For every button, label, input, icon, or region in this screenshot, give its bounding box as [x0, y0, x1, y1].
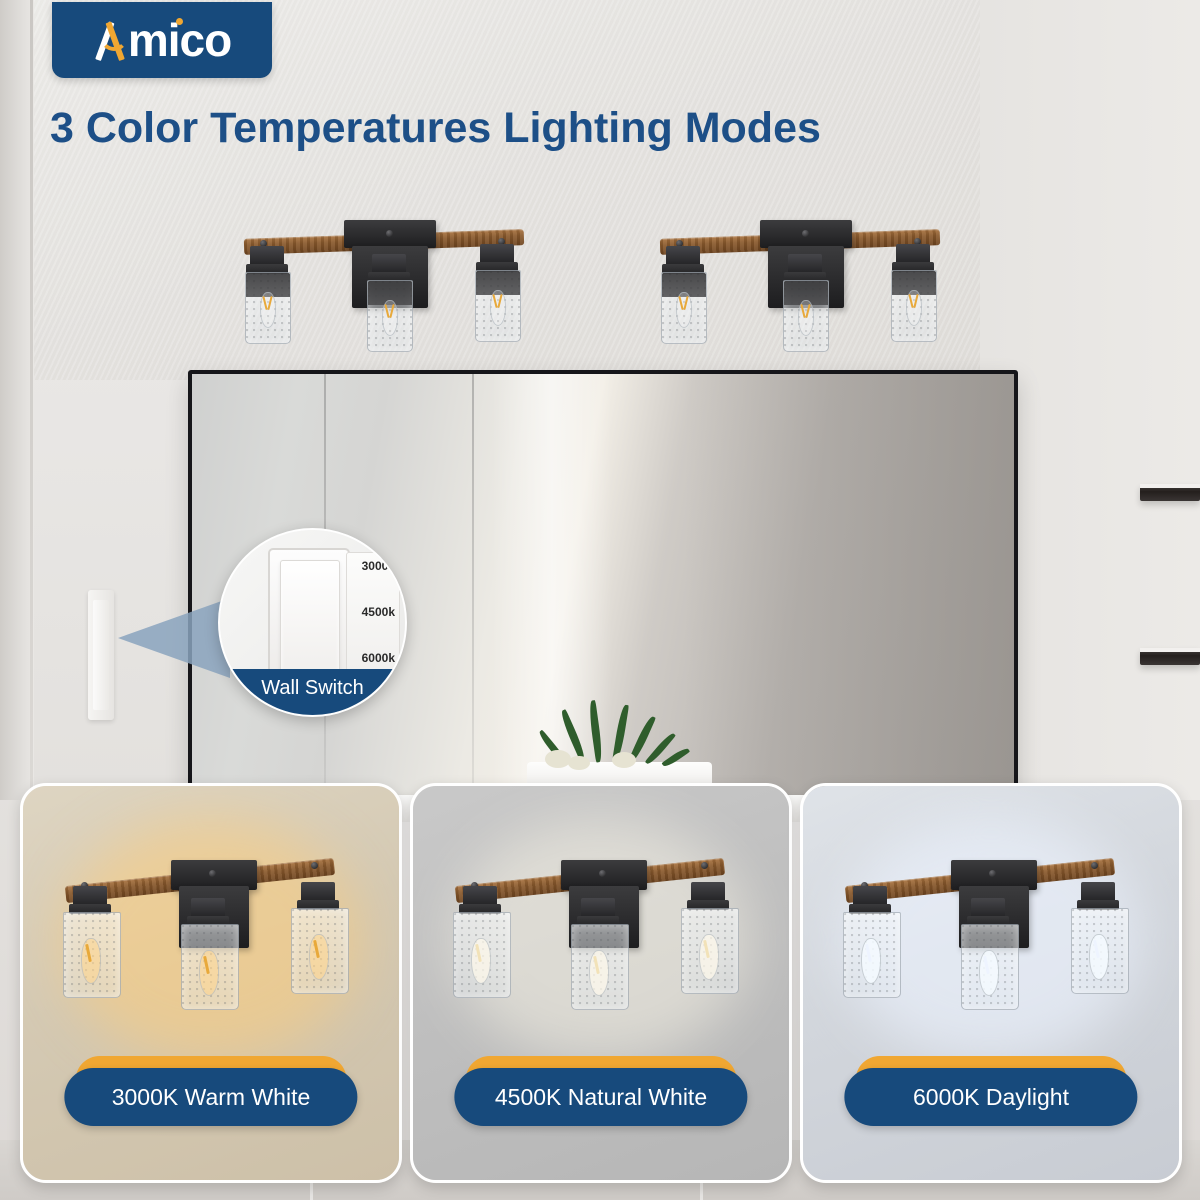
callout-pointer-arrow — [118, 598, 230, 678]
left-wall-corner — [0, 0, 34, 800]
temp-mark-3000k: 3000k — [362, 559, 395, 573]
wall-switch-rocker[interactable] — [93, 600, 109, 710]
wall-switch-callout: 3000k 4500k 6000k Wall Switch — [218, 528, 407, 717]
panel-label-text: 4500K Natural White — [495, 1084, 707, 1111]
temp-mark-4500k: 4500k — [362, 605, 395, 619]
logo-a-mark — [93, 20, 127, 60]
panel-label-text: 3000K Warm White — [112, 1084, 311, 1111]
callout-title-band: Wall Switch — [220, 669, 405, 715]
wall-switch-plate[interactable] — [88, 590, 114, 720]
mirror-shadow-gradient — [684, 374, 1014, 799]
brand-logo-badge: mico — [52, 2, 272, 78]
floating-shelf-lower — [1140, 648, 1200, 665]
mirror-seam — [472, 374, 474, 799]
shelf-top-surface — [1140, 484, 1200, 488]
temp-mark-6000k: 6000k — [362, 651, 395, 665]
switch-rocker-paddle[interactable] — [280, 560, 340, 680]
panel-warm-white[interactable]: 3000K Warm White — [20, 783, 402, 1183]
panel-natural-white[interactable]: 4500K Natural White — [410, 783, 792, 1183]
corner-edge-line — [30, 0, 33, 790]
color-temperature-panels: 3000K Warm White — [20, 783, 1182, 1183]
panel-label-pill-natural[interactable]: 4500K Natural White — [454, 1068, 747, 1126]
vanity-light-fixture-right — [652, 208, 944, 348]
shelf-top-surface — [1140, 648, 1200, 652]
logo-i-dot — [176, 18, 183, 25]
brand-logo-text: mico — [52, 2, 272, 78]
vanity-light-fixture-left — [236, 208, 528, 348]
panel-label-pill-warm[interactable]: 3000K Warm White — [64, 1068, 357, 1126]
product-marketing-image: mico 3 Color Temperatures Lighting Modes… — [0, 0, 1200, 1200]
floating-shelf-upper — [1140, 484, 1200, 501]
callout-title: Wall Switch — [220, 669, 405, 707]
page-title: 3 Color Temperatures Lighting Modes — [50, 104, 1140, 153]
panel-label-pill-daylight[interactable]: 6000K Daylight — [844, 1068, 1137, 1126]
color-temperature-scale: 3000k 4500k 6000k — [346, 552, 400, 682]
panel-daylight[interactable]: 6000K Daylight — [800, 783, 1182, 1183]
panel-label-text: 6000K Daylight — [913, 1084, 1069, 1111]
